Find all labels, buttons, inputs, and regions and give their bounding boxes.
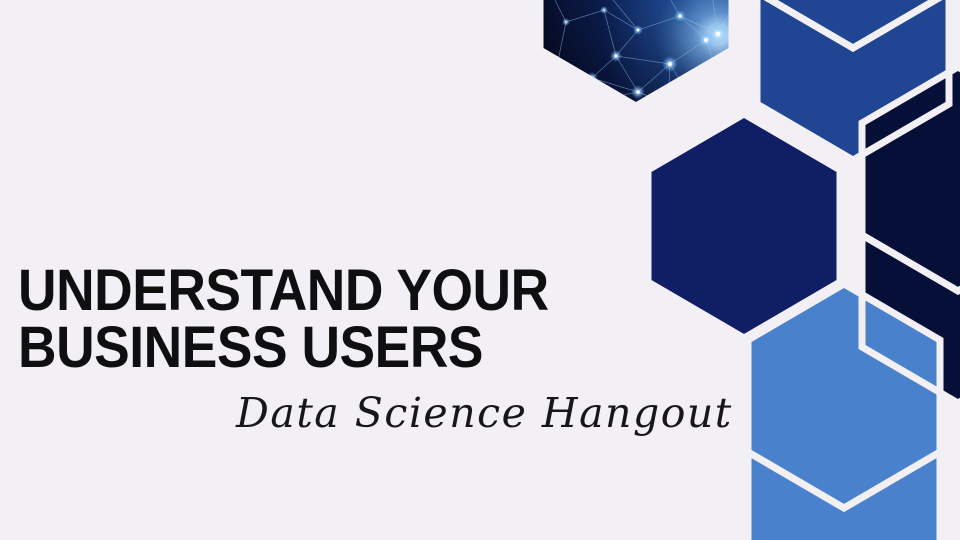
hexagon-darkest-navy (862, 67, 960, 291)
presentation-slide: UNDERSTAND YOUR BUSINESS USERS Data Scie… (0, 0, 960, 540)
hexagon-medium-blue-lower (757, 0, 949, 160)
hexagon-light-blue-lower (748, 452, 940, 540)
title-line-1: UNDERSTAND YOUR (18, 262, 625, 319)
title-line-2: BUSINESS USERS (18, 319, 625, 376)
hexagon-light-blue (748, 284, 940, 508)
hexagon-network-image (540, 0, 840, 146)
hexagon-darkest-navy-lower (862, 235, 960, 403)
page-title: UNDERSTAND YOUR BUSINESS USERS (18, 262, 678, 376)
hexagon-medium-blue (757, 0, 949, 48)
subtitle: Data Science Hangout (236, 386, 733, 440)
network-nodes (544, 0, 728, 110)
